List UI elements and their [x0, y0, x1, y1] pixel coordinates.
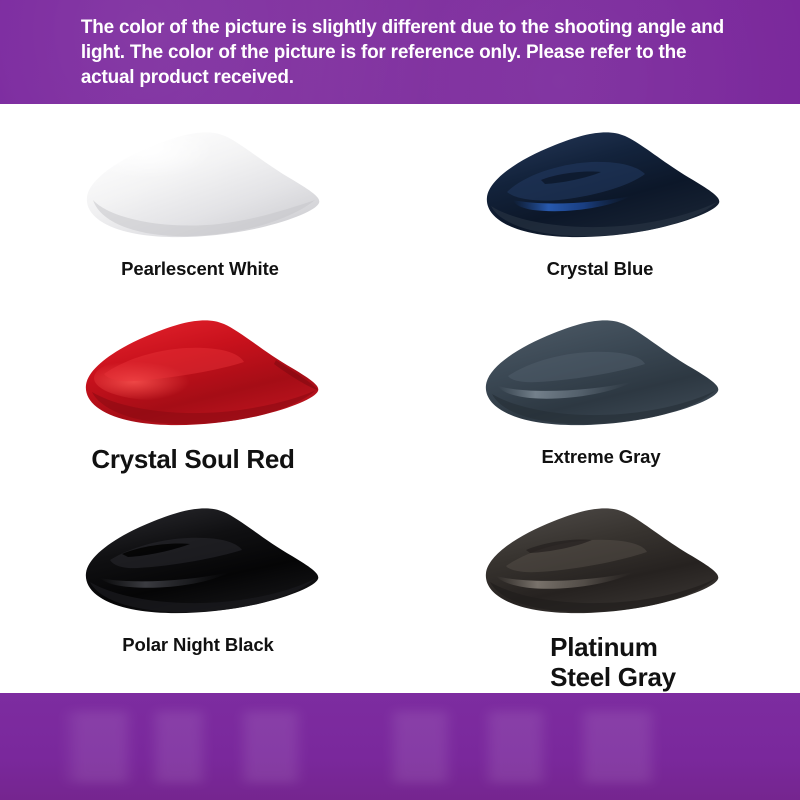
- swatch-polar-night-black[interactable]: Polar Night Black: [0, 480, 400, 693]
- mirror-cap-image-polar-night-black: [78, 490, 326, 622]
- mirror-cap-image-extreme-gray: [478, 302, 726, 434]
- band-watermark: [60, 711, 740, 783]
- mirror-cap-image-crystal-soul-red: [78, 302, 326, 434]
- swatch-pearlescent-white[interactable]: Pearlescent White: [0, 104, 400, 292]
- product-color-chart: The color of the picture is slightly dif…: [0, 0, 800, 800]
- swatch-label-pearlescent-white: Pearlescent White: [121, 258, 279, 280]
- disclaimer-banner: The color of the picture is slightly dif…: [0, 0, 800, 104]
- swatch-label-platinum-steel-gray: Platinum Steel Gray: [550, 632, 676, 693]
- swatch-crystal-soul-red[interactable]: Crystal Soul Red: [0, 292, 400, 480]
- mirror-cap-image-pearlescent-white: [79, 114, 327, 246]
- disclaimer-text: The color of the picture is slightly dif…: [44, 15, 735, 90]
- swatch-label-crystal-soul-red: Crystal Soul Red: [91, 444, 294, 475]
- bottom-purple-band: [0, 693, 800, 800]
- swatch-label-extreme-gray: Extreme Gray: [541, 446, 660, 468]
- swatch-crystal-blue[interactable]: Crystal Blue: [400, 104, 800, 292]
- swatch-label-crystal-blue: Crystal Blue: [547, 258, 654, 280]
- swatch-label-polar-night-black: Polar Night Black: [122, 634, 273, 656]
- mirror-cap-image-platinum-steel-gray: [478, 490, 726, 622]
- color-swatch-grid: Pearlescent White: [0, 104, 800, 693]
- mirror-cap-image-crystal-blue: [479, 114, 727, 246]
- swatch-platinum-steel-gray[interactable]: Platinum Steel Gray: [400, 480, 800, 693]
- swatch-extreme-gray[interactable]: Extreme Gray: [400, 292, 800, 480]
